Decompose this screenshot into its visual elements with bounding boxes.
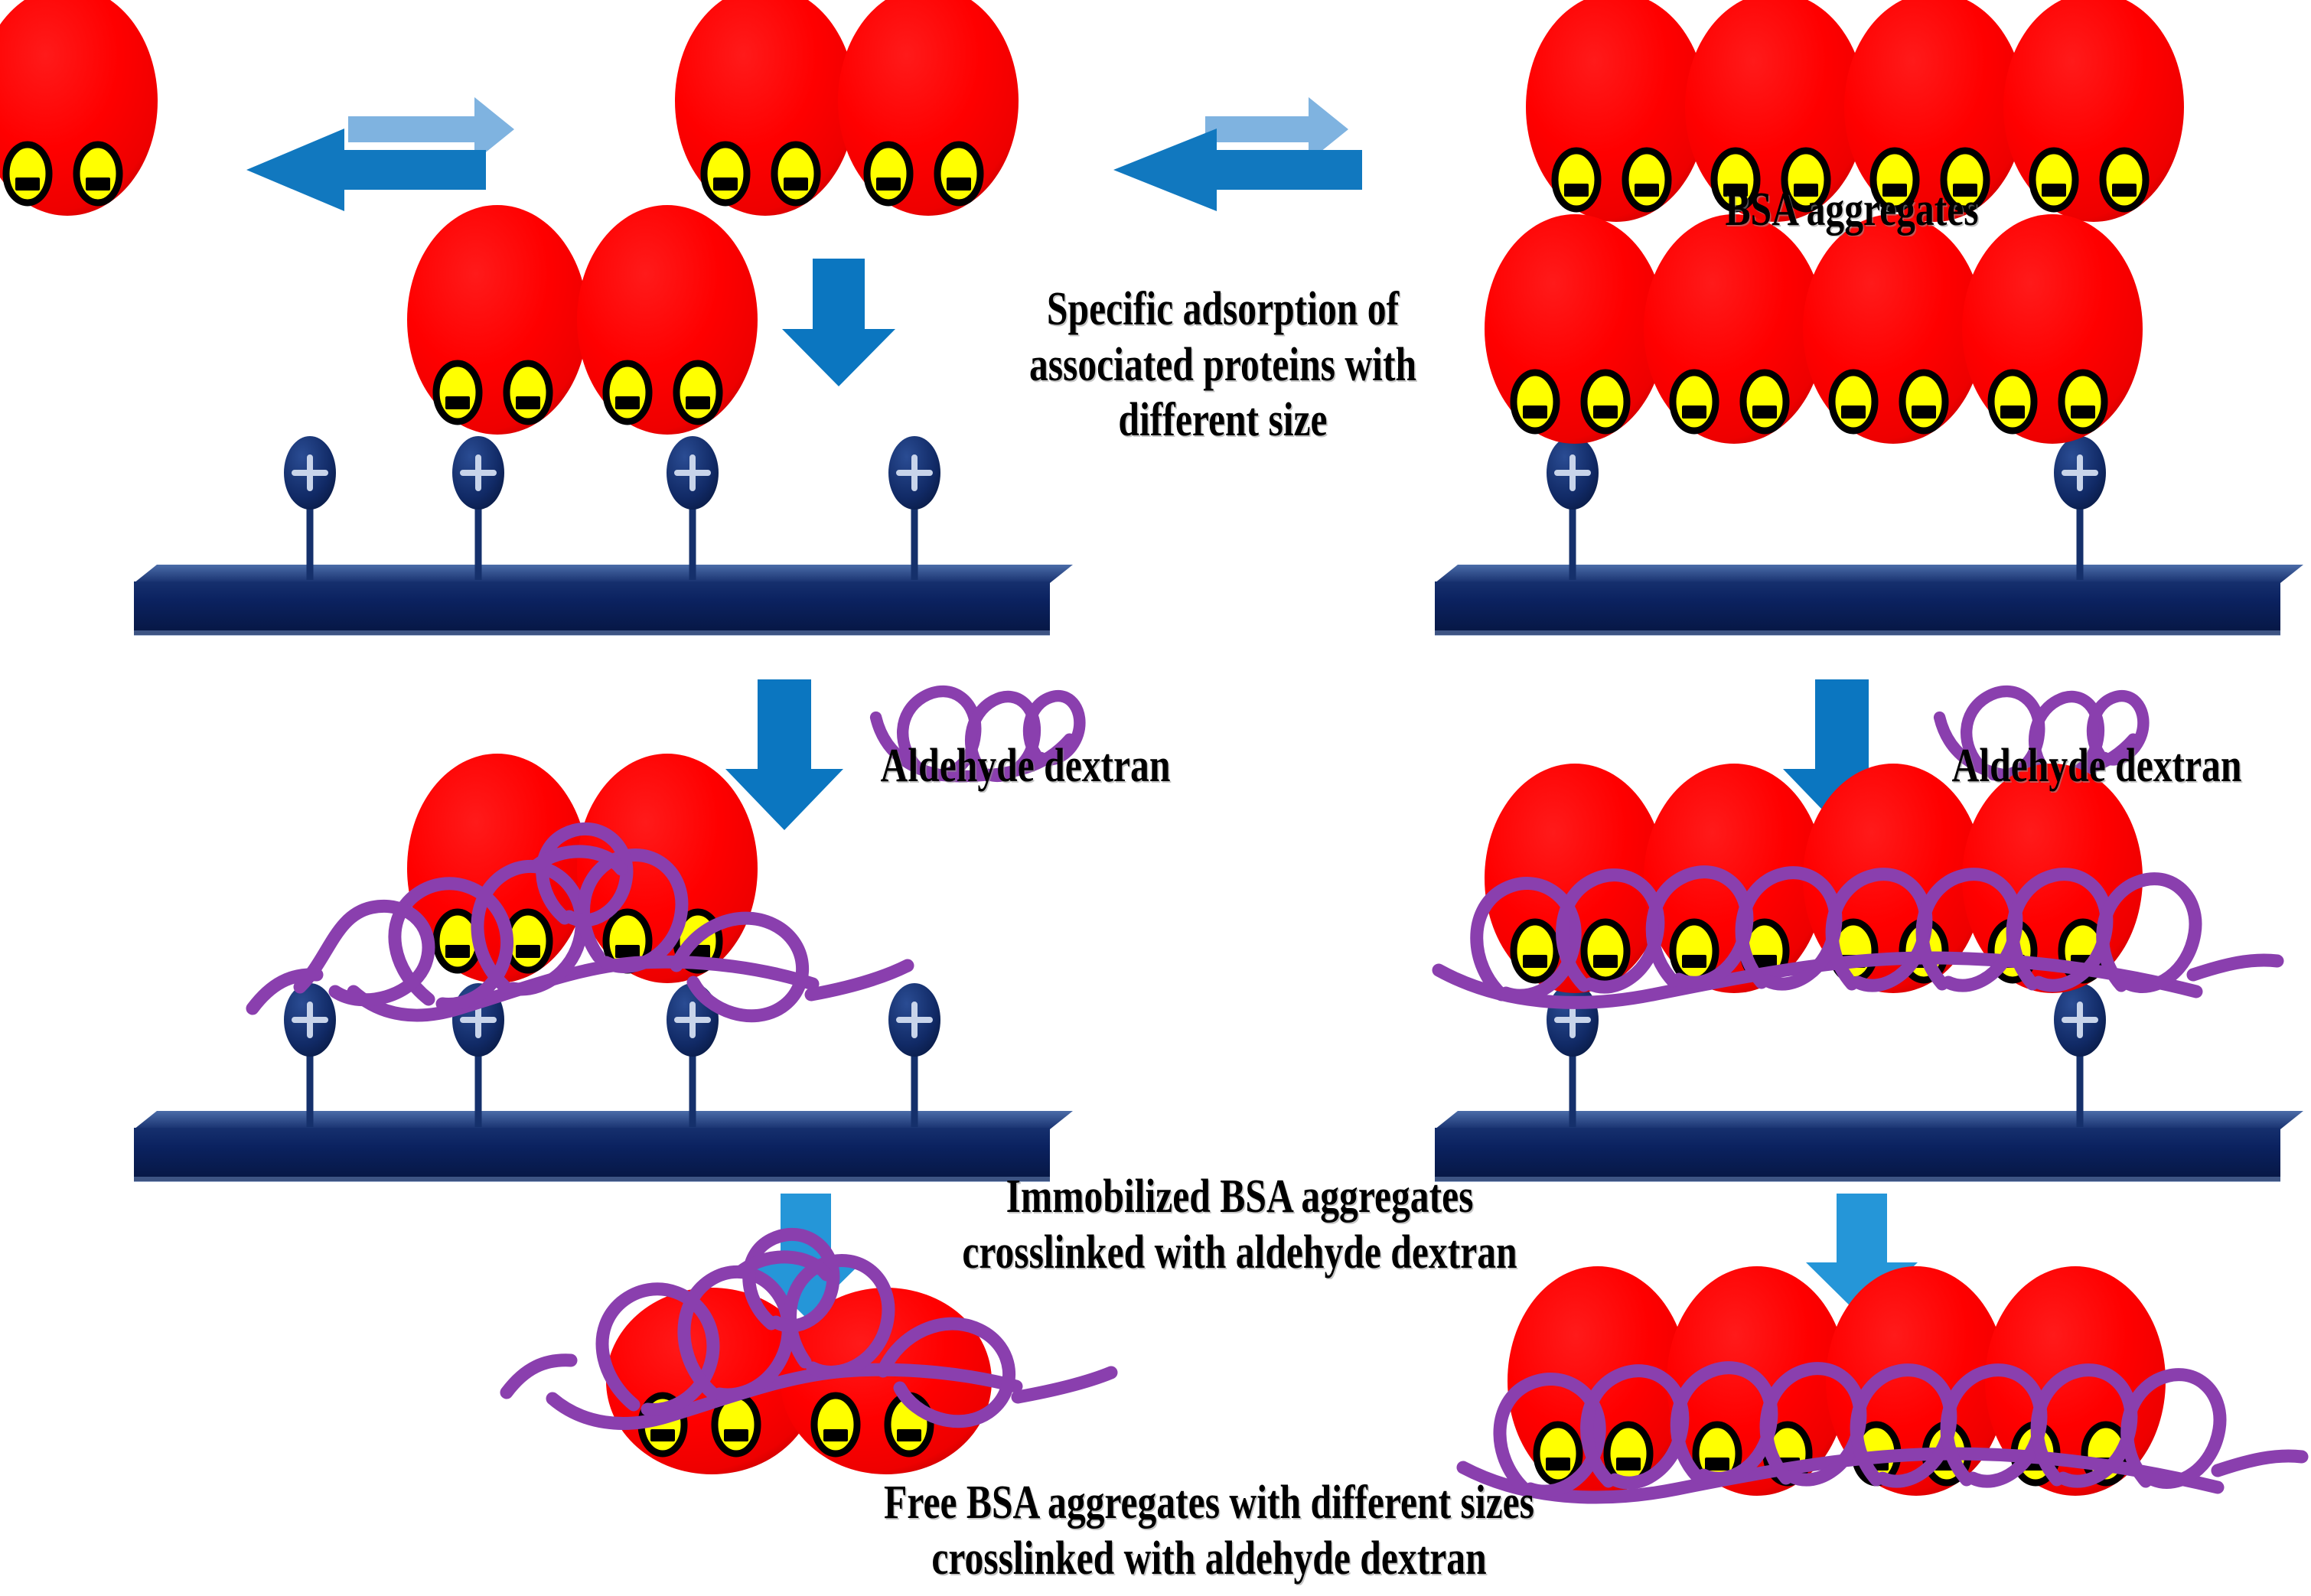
ligands-right bbox=[1547, 436, 2106, 580]
equilibrium-arrows-left bbox=[246, 97, 514, 211]
arrow-down-icon bbox=[782, 259, 895, 386]
arrow-down-icon bbox=[1800, 249, 1913, 381]
crosslinked-dimer bbox=[407, 754, 758, 983]
figure-canvas: BSA aggregates Specific adsorption of as… bbox=[0, 0, 2311, 1596]
arrow-left-icon bbox=[246, 129, 486, 211]
bsa-dimer bbox=[675, 0, 1019, 216]
adsorbed-aggregate bbox=[1485, 214, 2143, 444]
substrate-left bbox=[134, 565, 1073, 636]
arrow-down-icon bbox=[1806, 1194, 1918, 1318]
label-immobilized-bsa: Immobilized BSA aggregates crosslinked w… bbox=[878, 1169, 1601, 1280]
dextran-mesh bbox=[253, 829, 908, 1015]
arrow-down-icon bbox=[1783, 679, 1901, 830]
label-aldehyde-dextran-left: Aldehyde dextran bbox=[817, 738, 1234, 794]
arrow-right-icon bbox=[1205, 97, 1348, 161]
free-crosslinked-aggregate bbox=[1508, 1266, 2166, 1496]
equilibrium-arrows-right bbox=[1113, 97, 1362, 211]
label-free-bsa-aggregates: Free BSA aggregates with different sizes… bbox=[811, 1475, 1607, 1586]
arrow-left-icon bbox=[1113, 129, 1362, 211]
ligands-left bbox=[284, 436, 940, 580]
label-specific-adsorption: Specific adsorption of associated protei… bbox=[966, 282, 1480, 448]
label-bsa-aggregates: BSA aggregates bbox=[1613, 182, 2091, 238]
adsorbed-dimer bbox=[407, 205, 758, 435]
crosslinked-aggregate bbox=[1485, 764, 2143, 993]
bsa-monomer bbox=[0, 0, 158, 216]
substrate-right bbox=[1435, 565, 2303, 636]
arrow-down-icon bbox=[750, 1194, 862, 1318]
label-aldehyde-dextran-right: Aldehyde dextran bbox=[1889, 738, 2305, 794]
dextran-mesh bbox=[1439, 872, 2277, 1003]
free-crosslinked-dimer bbox=[606, 1288, 992, 1474]
arrow-right-icon bbox=[348, 97, 514, 161]
ligands-right-2 bbox=[1547, 983, 2106, 1127]
ligands-left-2 bbox=[284, 983, 940, 1127]
diagram-graphics bbox=[0, 0, 2311, 1596]
